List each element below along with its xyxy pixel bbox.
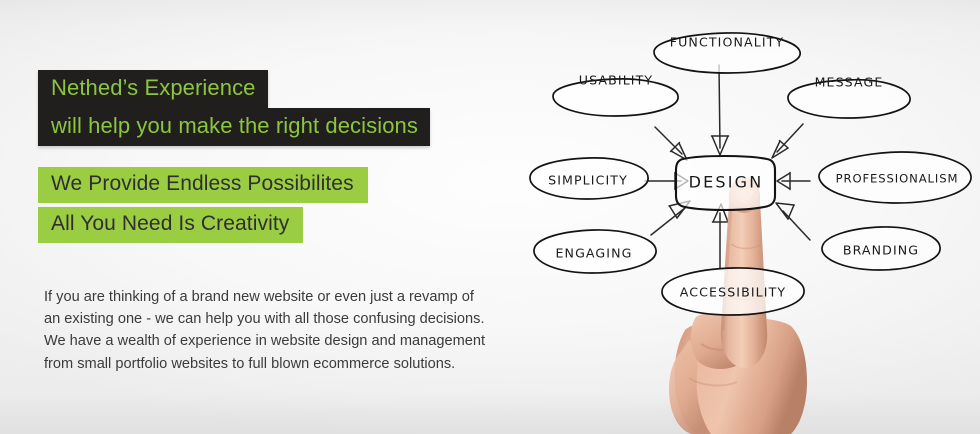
hero-banner: Nethed’s Experience will help you make t…: [0, 0, 980, 434]
node-design-center[interactable]: DESIGN: [676, 156, 775, 210]
headline-line-2: will help you make the right decisions: [38, 108, 430, 146]
node-label-engaging: ENGAGING: [556, 246, 633, 261]
node-label-accessibility: ACCESSIBILITY: [680, 285, 786, 300]
connector-functionality: [712, 65, 729, 155]
node-label-message: MESSAGE: [815, 75, 884, 90]
connector-message: [772, 124, 803, 158]
connector-usability: [655, 127, 687, 160]
node-label-professionalism: PROFESSIONALISM: [836, 172, 959, 186]
node-label-branding: BRANDING: [843, 243, 919, 258]
design-mindmap-diagram: FUNCTIONALITY USABILITY MESSAGE SIMPLICI…: [505, 0, 980, 434]
body-paragraph: If you are thinking of a brand new websi…: [44, 286, 514, 375]
node-functionality[interactable]: FUNCTIONALITY: [654, 33, 800, 73]
connector-professionalism: [777, 173, 810, 190]
node-message[interactable]: MESSAGE: [788, 75, 910, 119]
body-line: We have a wealth of experience in websit…: [44, 330, 514, 352]
node-label-simplicity: SIMPLICITY: [548, 173, 628, 188]
body-line: an existing one - we can help you with a…: [44, 308, 514, 330]
body-line: from small portfolio websites to full bl…: [44, 353, 514, 375]
node-accessibility[interactable]: ACCESSIBILITY: [662, 268, 804, 315]
headline-line-1: Nethed’s Experience: [38, 70, 268, 108]
subhead-line-1: We Provide Endless Possibilites: [38, 167, 368, 203]
node-usability[interactable]: USABILITY: [553, 73, 678, 117]
node-engaging[interactable]: ENGAGING: [534, 230, 656, 273]
node-label-usability: USABILITY: [579, 73, 653, 88]
node-simplicity[interactable]: SIMPLICITY: [530, 158, 648, 199]
hero-copy: Nethed’s Experience will help you make t…: [0, 0, 520, 434]
node-branding[interactable]: BRANDING: [822, 227, 940, 270]
connector-branding: [776, 203, 810, 240]
node-label-design: DESIGN: [689, 173, 764, 192]
node-professionalism[interactable]: PROFESSIONALISM: [819, 152, 971, 203]
node-label-functionality: FUNCTIONALITY: [670, 35, 784, 50]
body-line: If you are thinking of a brand new websi…: [44, 286, 514, 308]
subhead-line-2: All You Need Is Creativity: [38, 207, 303, 243]
